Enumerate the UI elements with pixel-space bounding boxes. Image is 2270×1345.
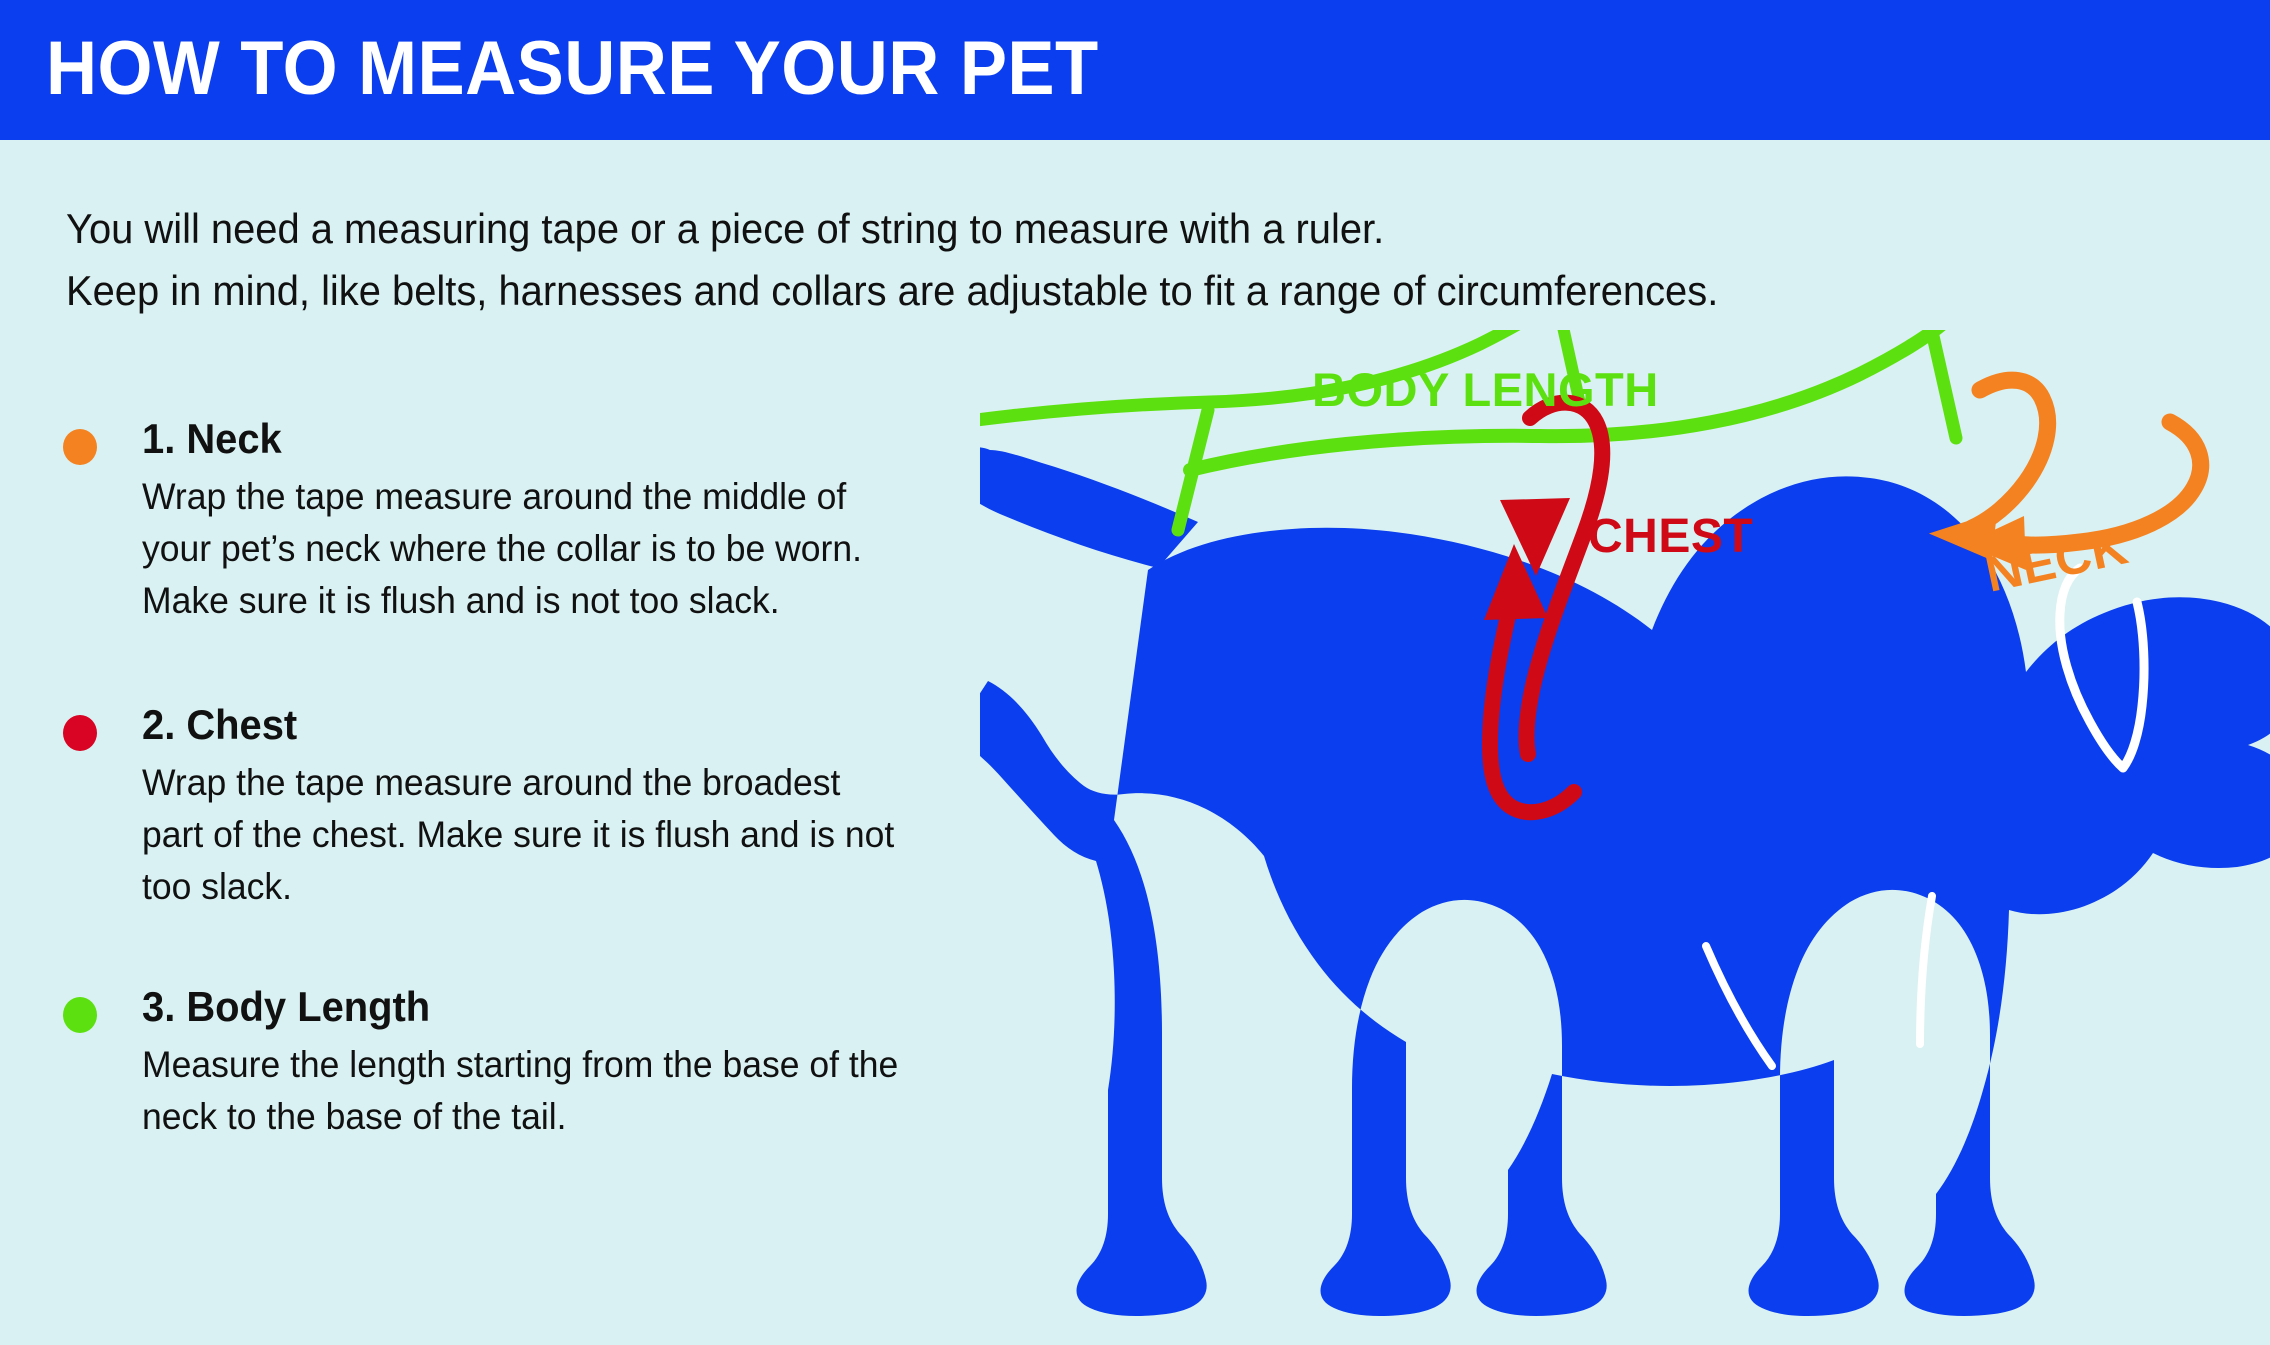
step-heading: 2. Chest xyxy=(142,701,1033,749)
step-body-line: neck to the base of the tail. xyxy=(142,1091,1042,1143)
page-title: HOW TO MEASURE YOUR PET xyxy=(46,26,1099,112)
measurement-steps-list: 1. Neck Wrap the tape measure around the… xyxy=(60,415,1080,1217)
step-body-line: part of the chest. Make sure it is flush… xyxy=(142,809,1042,861)
label-body-length: BODY LENGTH xyxy=(1312,363,1659,416)
step-body-line: Measure the length starting from the bas… xyxy=(142,1039,1042,1091)
dog-measurement-diagram: BODY LENGTH NECK CHEST xyxy=(980,330,2270,1330)
step-body-line: Wrap the tape measure around the middle … xyxy=(142,471,1042,523)
bullet-neck-icon xyxy=(63,429,97,465)
intro-line-1: You will need a measuring tape or a piec… xyxy=(66,198,1700,260)
step-body: Measure the length starting from the bas… xyxy=(142,1039,1042,1143)
header-bar: HOW TO MEASURE YOUR PET xyxy=(0,0,2270,140)
list-item: 3. Body Length Measure the length starti… xyxy=(60,983,1080,1143)
list-item: 1. Neck Wrap the tape measure around the… xyxy=(60,415,1080,627)
step-body-line: Wrap the tape measure around the broades… xyxy=(142,757,1042,809)
step-body-line: your pet’s neck where the collar is to b… xyxy=(142,523,1042,575)
step-heading: 1. Neck xyxy=(142,415,1033,463)
step-heading: 3. Body Length xyxy=(142,983,1033,1031)
label-chest: CHEST xyxy=(1588,510,1753,563)
step-body-line: Make sure it is flush and is not too sla… xyxy=(142,575,1042,627)
step-body-line: too slack. xyxy=(142,861,1042,913)
step-body: Wrap the tape measure around the middle … xyxy=(142,471,1042,627)
dog-illustration-final xyxy=(980,330,2270,1330)
intro-line-2: Keep in mind, like belts, harnesses and … xyxy=(66,260,1700,322)
list-item: 2. Chest Wrap the tape measure around th… xyxy=(60,701,1080,913)
intro-paragraph: You will need a measuring tape or a piec… xyxy=(66,198,1700,322)
bullet-chest-icon xyxy=(63,715,97,751)
step-body: Wrap the tape measure around the broades… xyxy=(142,757,1042,913)
infographic-page: HOW TO MEASURE YOUR PET You will need a … xyxy=(0,0,2270,1345)
bullet-body-length-icon xyxy=(63,997,97,1033)
